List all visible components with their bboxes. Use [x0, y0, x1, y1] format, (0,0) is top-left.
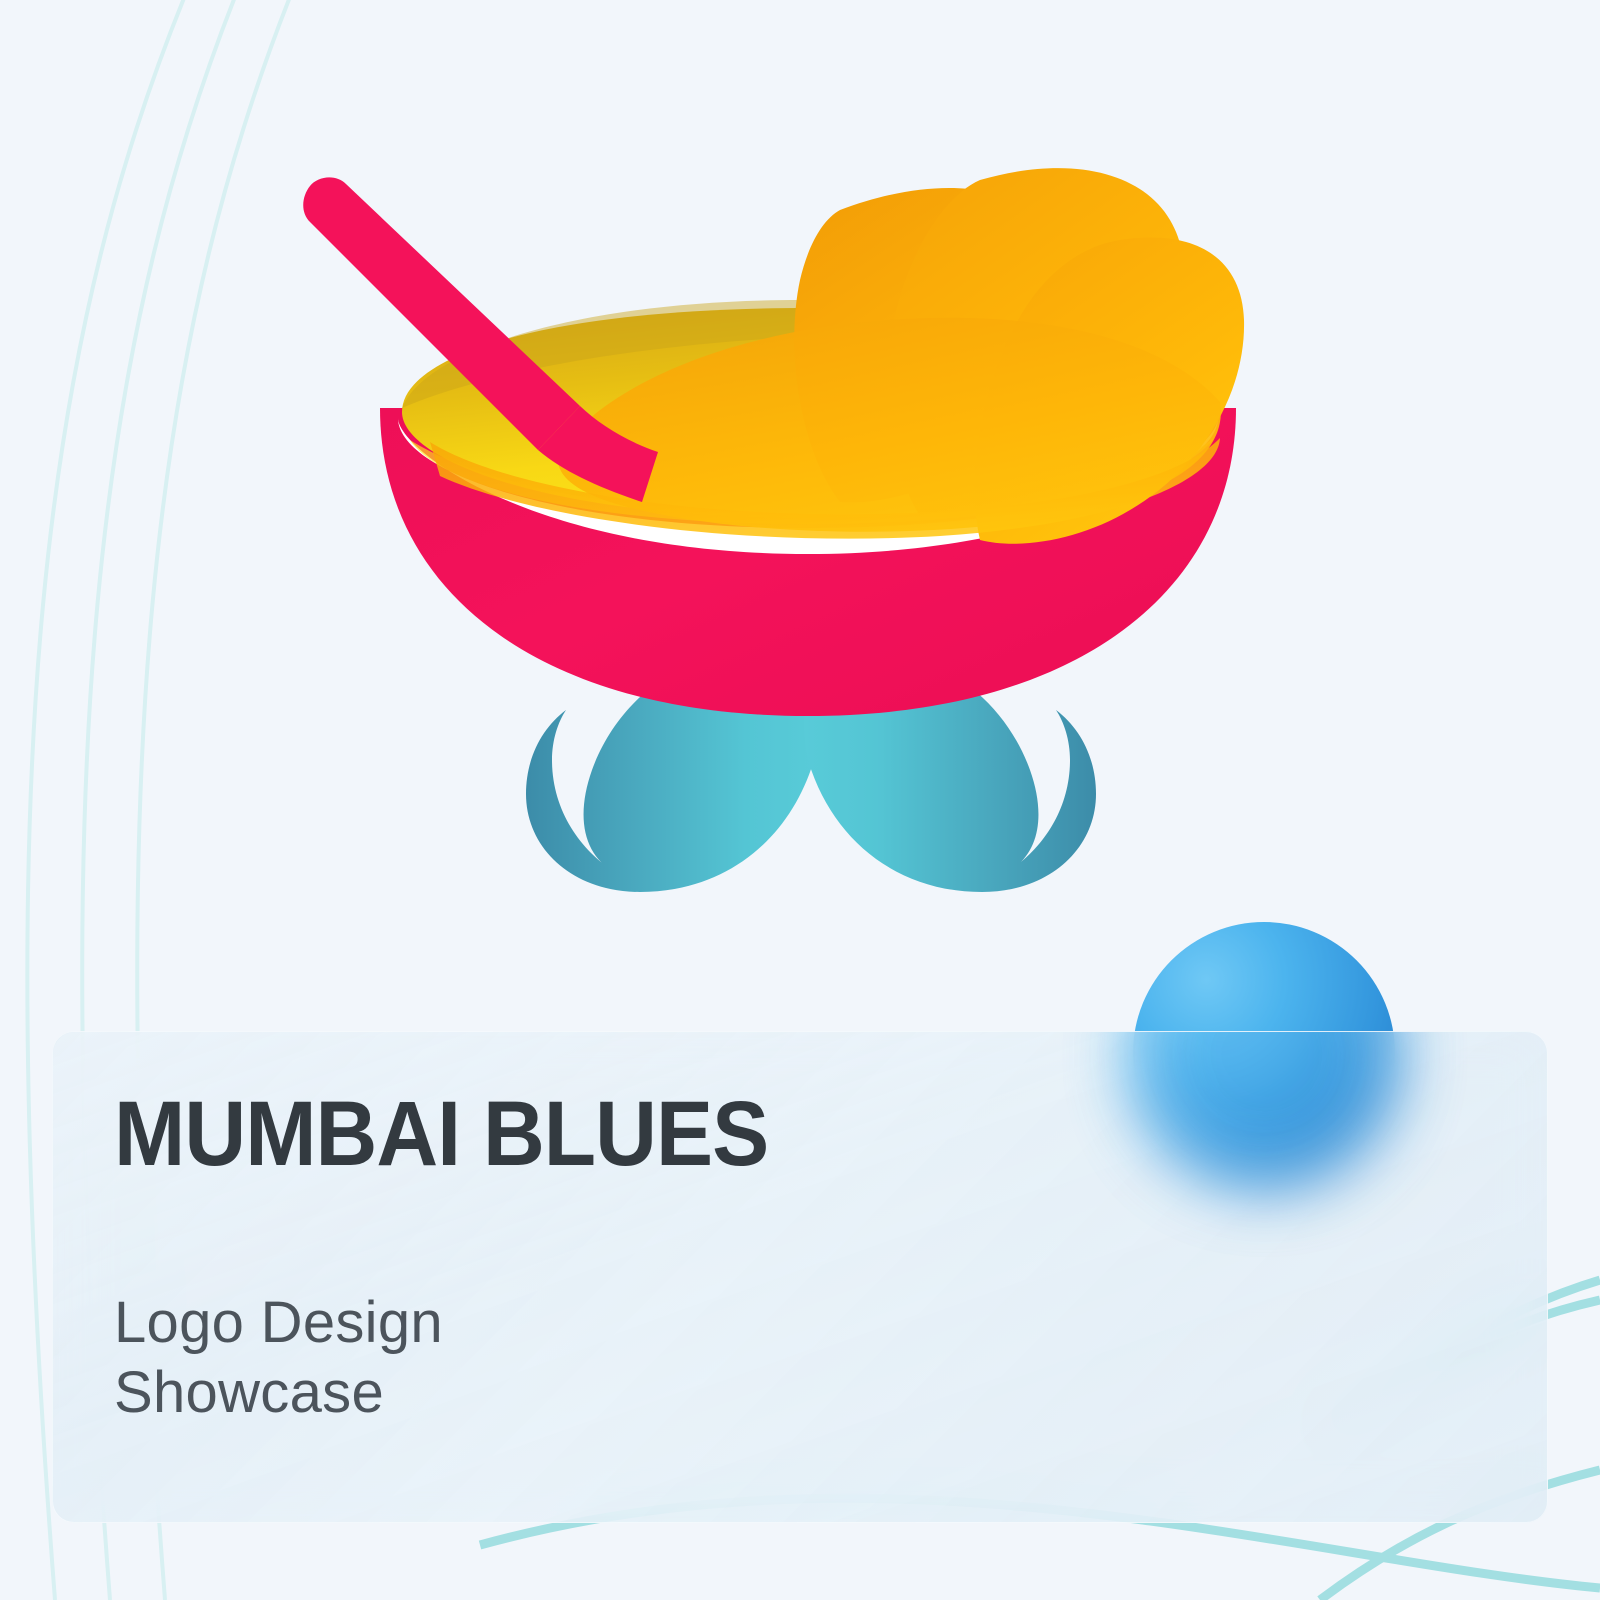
showcase-canvas: MUMBAI BLUES Logo Design Showcase — [0, 0, 1600, 1600]
card-subtitle-line-2: Showcase — [114, 1358, 1507, 1428]
mumbai-blues-logo-artwork — [280, 150, 1340, 930]
showcase-info-card[interactable]: MUMBAI BLUES Logo Design Showcase — [52, 1031, 1548, 1523]
page-title: MUMBAI BLUES — [114, 1088, 1409, 1180]
card-subtitle: Logo Design Showcase — [114, 1288, 1507, 1428]
card-subtitle-line-1: Logo Design — [114, 1288, 1507, 1358]
card-text-block: MUMBAI BLUES Logo Design Showcase — [114, 1088, 1507, 1428]
